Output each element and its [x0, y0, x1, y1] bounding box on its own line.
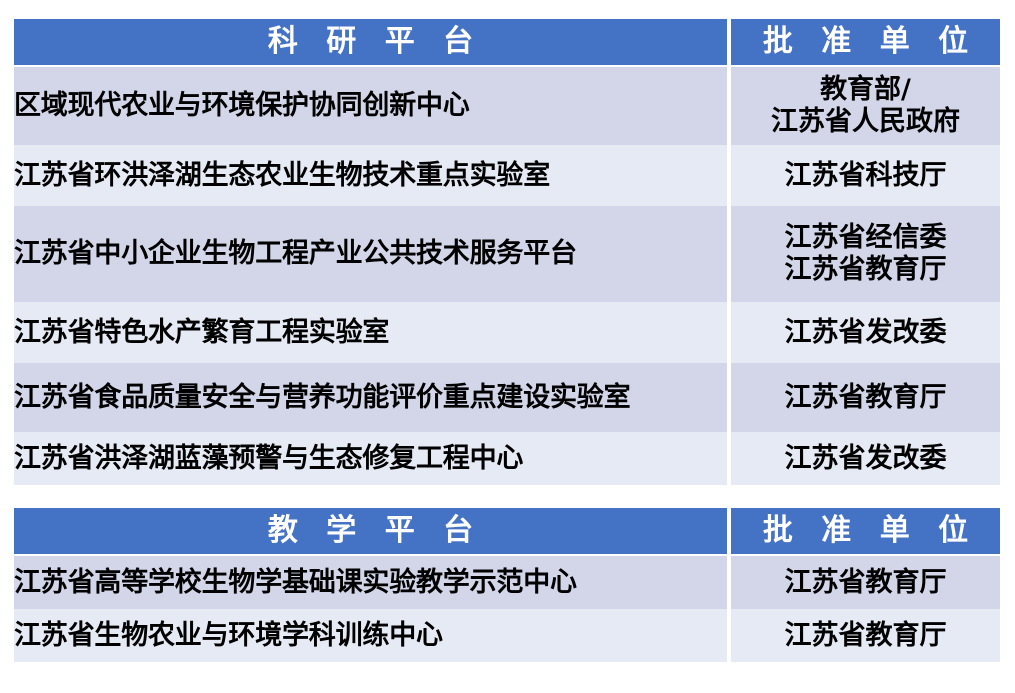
approving-unit: 江苏省科技厅: [731, 145, 1000, 206]
approving-unit-line: 江苏省教育厅: [731, 620, 1000, 652]
table-row: 江苏省中小企业生物工程产业公共技术服务平台 江苏省经信委 江苏省教育厅: [14, 206, 1000, 302]
table-row: 江苏省生物农业与环境学科训练中心 江苏省教育厅: [14, 609, 1000, 662]
approving-unit: 江苏省发改委: [731, 432, 1000, 485]
platform-name: 江苏省食品质量安全与营养功能评价重点建设实验室: [14, 363, 727, 432]
table-row: 江苏省特色水产繁育工程实验室 江苏省发改委: [14, 302, 1000, 363]
platform-name: 江苏省环洪泽湖生态农业生物技术重点实验室: [14, 145, 727, 206]
teaching-table-header: 教 学 平 台 批 准 单 位: [14, 508, 1000, 554]
approving-unit: 江苏省发改委: [731, 302, 1000, 363]
header-teaching-platform: 教 学 平 台: [14, 508, 727, 554]
table-row: 江苏省食品质量安全与营养功能评价重点建设实验室 江苏省教育厅: [14, 363, 1000, 432]
header-approving-unit: 批 准 单 位: [731, 19, 1000, 65]
approving-unit: 江苏省经信委 江苏省教育厅: [731, 206, 1000, 302]
approving-unit: 教育部/ 江苏省人民政府: [731, 67, 1000, 145]
table-row: 江苏省洪泽湖蓝藻预警与生态修复工程中心 江苏省发改委: [14, 432, 1000, 485]
table-row: 区域现代农业与环境保护协同创新中心 教育部/ 江苏省人民政府: [14, 67, 1000, 145]
approving-unit-line: 教育部/: [731, 74, 1000, 106]
header-row: 科 研 平 台 批 准 单 位: [14, 19, 1000, 65]
platform-name: 区域现代农业与环境保护协同创新中心: [14, 67, 727, 145]
research-platform-table: 科 研 平 台 批 准 单 位 区域现代农业与环境保护协同创新中心 教育部/ 江…: [14, 19, 1000, 485]
table-row: 江苏省高等学校生物学基础课实验教学示范中心 江苏省教育厅: [14, 556, 1000, 609]
approving-unit-line: 江苏省科技厅: [731, 160, 1000, 192]
platform-name: 江苏省生物农业与环境学科训练中心: [14, 609, 727, 662]
research-table-body: 区域现代农业与环境保护协同创新中心 教育部/ 江苏省人民政府 江苏省环洪泽湖生态…: [14, 65, 1000, 485]
platform-name: 江苏省特色水产繁育工程实验室: [14, 302, 727, 363]
platform-name: 江苏省高等学校生物学基础课实验教学示范中心: [14, 556, 727, 609]
platform-name: 江苏省中小企业生物工程产业公共技术服务平台: [14, 206, 727, 302]
header-row: 教 学 平 台 批 准 单 位: [14, 508, 1000, 554]
approving-unit: 江苏省教育厅: [731, 556, 1000, 609]
header-approving-unit: 批 准 单 位: [731, 508, 1000, 554]
approving-unit: 江苏省教育厅: [731, 363, 1000, 432]
approving-unit-line: 江苏省人民政府: [731, 106, 1000, 138]
approving-unit-line: 江苏省发改委: [731, 443, 1000, 475]
platform-name: 江苏省洪泽湖蓝藻预警与生态修复工程中心: [14, 432, 727, 485]
approving-unit: 江苏省教育厅: [731, 609, 1000, 662]
approving-unit-line: 江苏省经信委: [731, 222, 1000, 254]
teaching-platform-table: 教 学 平 台 批 准 单 位 江苏省高等学校生物学基础课实验教学示范中心 江苏…: [14, 508, 1000, 662]
research-table-header: 科 研 平 台 批 准 单 位: [14, 19, 1000, 65]
header-research-platform: 科 研 平 台: [14, 19, 727, 65]
table-row: 江苏省环洪泽湖生态农业生物技术重点实验室 江苏省科技厅: [14, 145, 1000, 206]
approving-unit-line: 江苏省教育厅: [731, 254, 1000, 286]
document-page: 科 研 平 台 批 准 单 位 区域现代农业与环境保护协同创新中心 教育部/ 江…: [0, 0, 1015, 693]
teaching-table-body: 江苏省高等学校生物学基础课实验教学示范中心 江苏省教育厅 江苏省生物农业与环境学…: [14, 554, 1000, 662]
approving-unit-line: 江苏省发改委: [731, 317, 1000, 349]
approving-unit-line: 江苏省教育厅: [731, 567, 1000, 599]
approving-unit-line: 江苏省教育厅: [731, 382, 1000, 414]
